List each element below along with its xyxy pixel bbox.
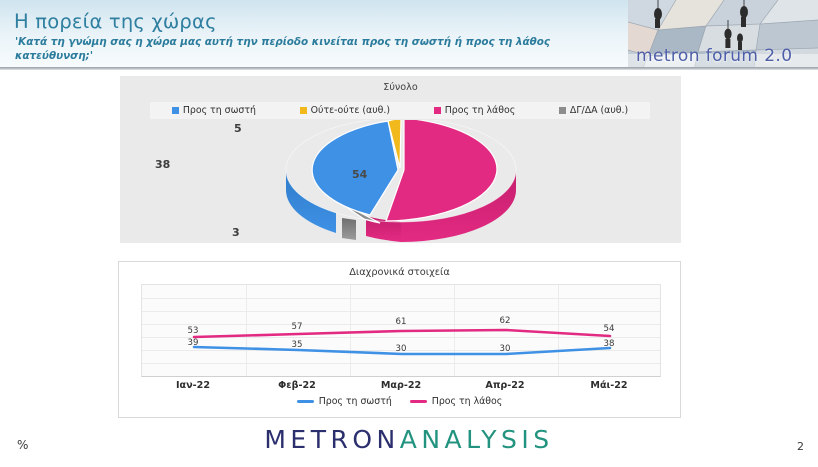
legend-swatch-right-direction [172, 107, 179, 114]
legend-label-neither: Ούτε-ούτε (αυθ.) [311, 105, 390, 116]
line-chart-legend: Προς τη σωστή Προς τη λάθος [119, 396, 680, 407]
line-label-wrong-3: 61 [396, 317, 407, 327]
x-axis-tick-mar: Μαρ-22 [381, 380, 421, 391]
legend-label-wrong-direction: Προς τη λάθος [445, 105, 516, 116]
page-number: 2 [797, 440, 804, 453]
legend-label-dk-na: ΔΓ/ΔΑ (αυθ.) [570, 105, 628, 116]
legend-swatch-neither [300, 107, 307, 114]
x-axis-tick-jan: Ιαν-22 [176, 380, 210, 391]
x-axis-tick-feb: Φεβ-22 [278, 380, 316, 391]
page-title: Η πορεία της χώρας [14, 10, 217, 33]
line-legend-label-wrong-direction: Προς τη λάθος [432, 396, 503, 407]
line-legend-swatch-wrong-direction [410, 400, 427, 402]
line-legend-swatch-right-direction [297, 400, 314, 402]
line-label-right-3: 30 [396, 344, 407, 354]
pie-data-label-wrong-direction: 54 [352, 168, 367, 181]
pie-chart-stage: 38 5 54 3 [120, 120, 681, 243]
line-chart-panel: Διαχρονικά στοιχεία 53 57 61 62 54 [118, 261, 681, 418]
line-chart-plot-area [141, 284, 661, 377]
line-legend-item-right-direction: Προς τη σωστή [297, 396, 392, 407]
legend-item-wrong-direction: Προς τη λάθος [434, 105, 516, 116]
pie-chart-title: Σύνολο [120, 82, 681, 93]
logo-text: metron forum 2.0 [636, 46, 792, 66]
line-legend-label-right-direction: Προς τη σωστή [319, 396, 392, 407]
legend-label-right-direction: Προς τη σωστή [183, 105, 256, 116]
legend-item-right-direction: Προς τη σωστή [172, 105, 256, 116]
line-chart-series-graphic [142, 285, 660, 376]
line-chart-title: Διαχρονικά στοιχεία [119, 267, 680, 278]
line-label-wrong-5: 54 [604, 324, 615, 334]
brand-analysis: ANALYSIS [400, 425, 554, 454]
line-label-wrong-1: 53 [188, 326, 199, 336]
pie-chart-legend: Προς τη σωστή Ούτε-ούτε (αυθ.) Προς τη λ… [150, 102, 650, 119]
brand-metron: METRON [264, 425, 399, 454]
header-divider [0, 67, 818, 70]
pie-chart-graphic [120, 120, 681, 243]
line-label-right-4: 30 [500, 344, 511, 354]
legend-item-dk-na: ΔΓ/ΔΑ (αυθ.) [559, 105, 628, 116]
x-axis-tick-apr: Απρ-22 [485, 380, 524, 391]
pie-data-label-right-direction: 38 [155, 158, 170, 171]
line-legend-item-wrong-direction: Προς τη λάθος [410, 396, 503, 407]
slide-header: Η πορεία της χώρας 'Κατά τη γνώμη σας η … [0, 0, 818, 69]
line-label-right-2: 35 [292, 340, 303, 350]
x-axis-tick-may: Μάι-22 [590, 380, 627, 391]
legend-item-neither: Ούτε-ούτε (αυθ.) [300, 105, 390, 116]
line-label-right-1: 39 [188, 338, 199, 348]
pie-data-label-dk-na: 3 [232, 226, 240, 239]
pie-chart-panel: Σύνολο Προς τη σωστή Ούτε-ούτε (αυθ.) Πρ… [120, 76, 681, 243]
legend-swatch-dk-na [559, 107, 566, 114]
line-label-wrong-2: 57 [292, 322, 303, 332]
legend-swatch-wrong-direction [434, 107, 441, 114]
page-subtitle: 'Κατά τη γνώμη σας η χώρα μας αυτή την π… [15, 36, 615, 63]
pie-data-label-neither: 5 [234, 122, 242, 135]
metron-analysis-brand: METRONANALYSIS [0, 425, 818, 454]
metron-forum-logo: metron forum 2.0 [628, 0, 818, 70]
slide: Η πορεία της χώρας 'Κατά τη γνώμη σας η … [0, 0, 818, 467]
line-label-right-5: 38 [604, 339, 615, 349]
line-label-wrong-4: 62 [500, 316, 511, 326]
